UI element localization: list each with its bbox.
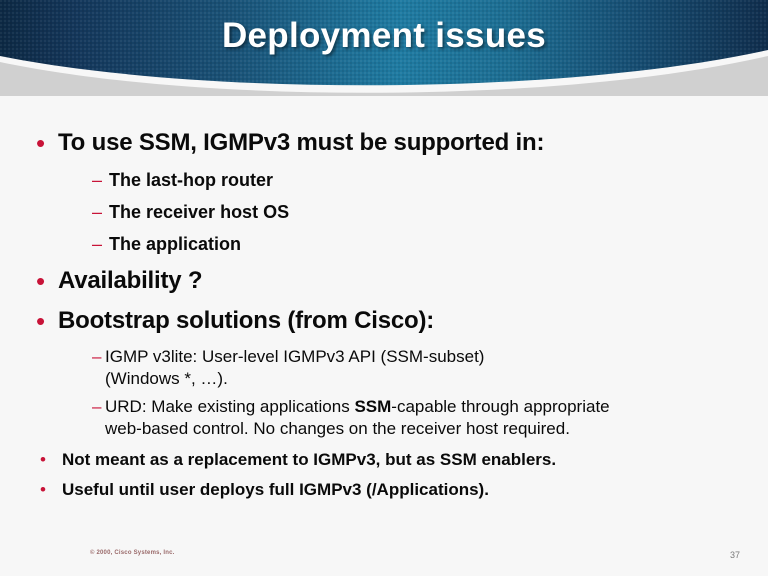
- bullet-text: Bootstrap solutions (from Cisco):: [58, 306, 434, 336]
- dash-icon: –: [92, 168, 109, 192]
- sub-bullet-text: The last-hop router: [109, 168, 273, 192]
- dash-icon: –: [92, 346, 105, 368]
- slide-title: Deployment issues: [0, 0, 768, 72]
- sub-bullet-line-2: (Windows *, …).: [105, 369, 228, 388]
- bullet-dot-icon: •: [40, 448, 62, 472]
- copyright-notice: © 2000, Cisco Systems, Inc.: [90, 550, 175, 556]
- bullet-item: • To use SSM, IGMPv3 must be supported i…: [0, 128, 768, 158]
- bullet-item: • Availability ?: [0, 266, 768, 296]
- bullet-text: To use SSM, IGMPv3 must be supported in:: [58, 128, 544, 158]
- sub-bullet-line-1: IGMP v3lite: User-level IGMPv3 API (SSM-…: [105, 347, 484, 366]
- sub-bullet-text: URD: Make existing applications SSM-capa…: [105, 396, 610, 440]
- sub-bullet-text: IGMP v3lite: User-level IGMPv3 API (SSM-…: [105, 346, 484, 390]
- bullet-dot-icon: •: [36, 306, 58, 336]
- urd-line2: web-based control. No changes on the rec…: [105, 419, 570, 438]
- dash-icon: –: [92, 200, 109, 224]
- title-banner: Deployment issues: [0, 0, 768, 96]
- sub-bullet-item: – The receiver host OS: [0, 200, 768, 224]
- sub-bullet-item: – The application: [0, 232, 768, 256]
- urd-line1-post: -capable through appropriate: [391, 397, 609, 416]
- sub-bullet-item: – URD: Make existing applications SSM-ca…: [0, 396, 768, 440]
- bullet-item: • Not meant as a replacement to IGMPv3, …: [0, 448, 768, 472]
- urd-line1-bold: SSM: [354, 397, 391, 416]
- urd-line1-pre: URD: Make existing applications: [105, 397, 354, 416]
- bullet-item: • Bootstrap solutions (from Cisco):: [0, 306, 768, 336]
- sub-bullet-item: – The last-hop router: [0, 168, 768, 192]
- dash-icon: –: [92, 396, 105, 418]
- dash-icon: –: [92, 232, 109, 256]
- sub-bullet-item: – IGMP v3lite: User-level IGMPv3 API (SS…: [0, 346, 768, 390]
- sub-bullet-text: The receiver host OS: [109, 200, 289, 224]
- bullet-item: • Useful until user deploys full IGMPv3 …: [0, 478, 768, 502]
- bullet-text: Not meant as a replacement to IGMPv3, bu…: [62, 448, 556, 472]
- slide: Deployment issues • To use SSM, IGMPv3 m…: [0, 0, 768, 576]
- bullet-dot-icon: •: [36, 128, 58, 158]
- bullet-text: Availability ?: [58, 266, 202, 296]
- slide-body: • To use SSM, IGMPv3 must be supported i…: [0, 128, 768, 508]
- bullet-dot-icon: •: [40, 478, 62, 502]
- bullet-text: Useful until user deploys full IGMPv3 (/…: [62, 478, 489, 502]
- sub-bullet-text: The application: [109, 232, 241, 256]
- bullet-dot-icon: •: [36, 266, 58, 296]
- page-number: 37: [730, 550, 740, 560]
